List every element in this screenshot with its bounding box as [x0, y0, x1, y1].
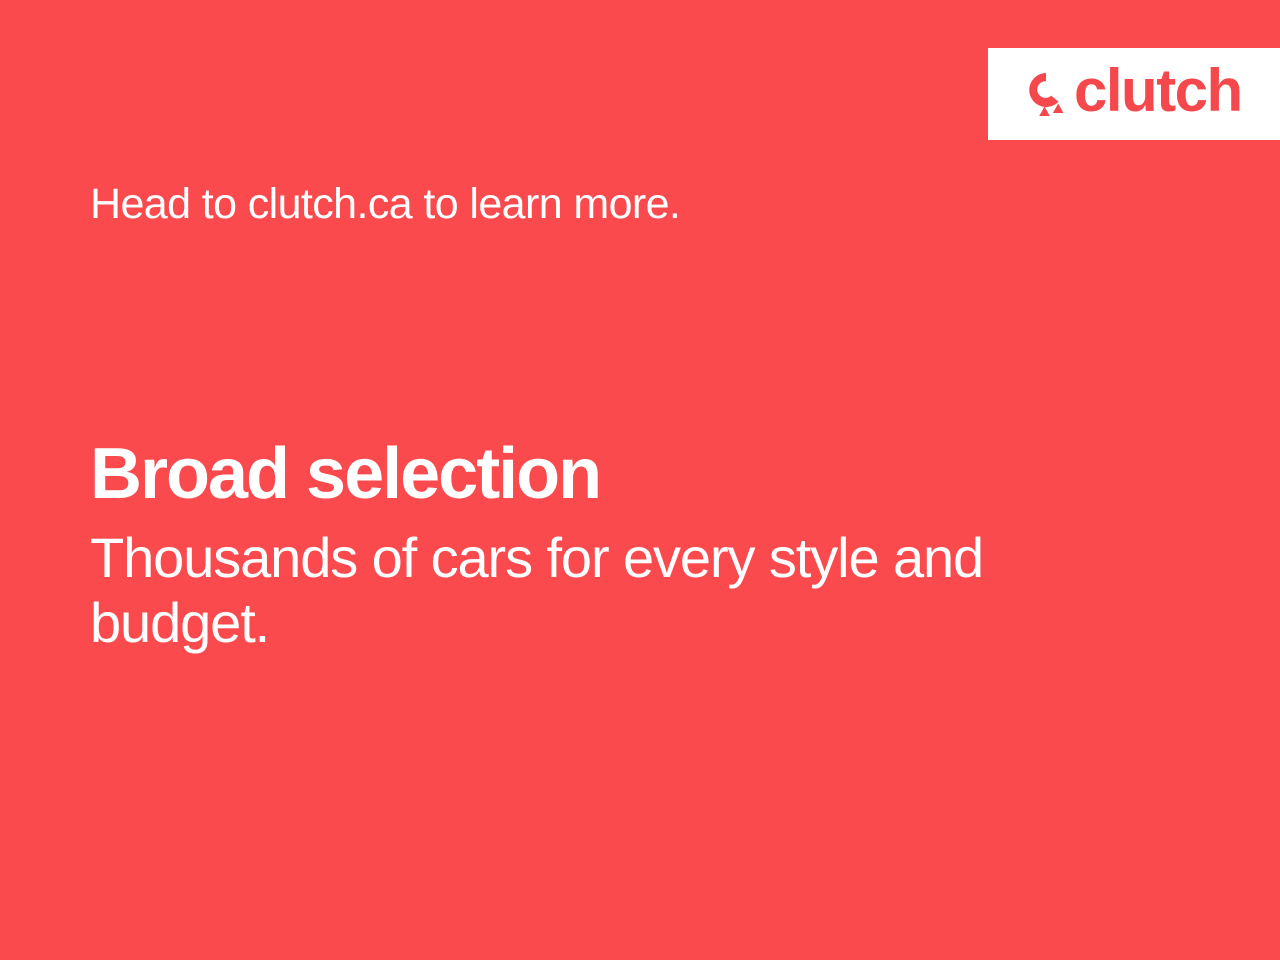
- brand-logo-plaque[interactable]: clutch: [988, 48, 1280, 140]
- page-title: Broad selection: [90, 437, 1090, 512]
- clutch-wordmark: clutch: [1074, 61, 1242, 121]
- page-subtitle: Thousands of cars for every style and bu…: [90, 526, 1020, 656]
- slide-canvas: clutch Head to clutch.ca to learn more. …: [0, 0, 1280, 960]
- headline-block: Broad selection Thousands of cars for ev…: [90, 437, 1090, 656]
- clutch-logo-lockup[interactable]: clutch: [1020, 64, 1242, 124]
- clutch-c-mark-icon: [1020, 68, 1072, 120]
- eyebrow-cta-text: Head to clutch.ca to learn more.: [90, 180, 680, 228]
